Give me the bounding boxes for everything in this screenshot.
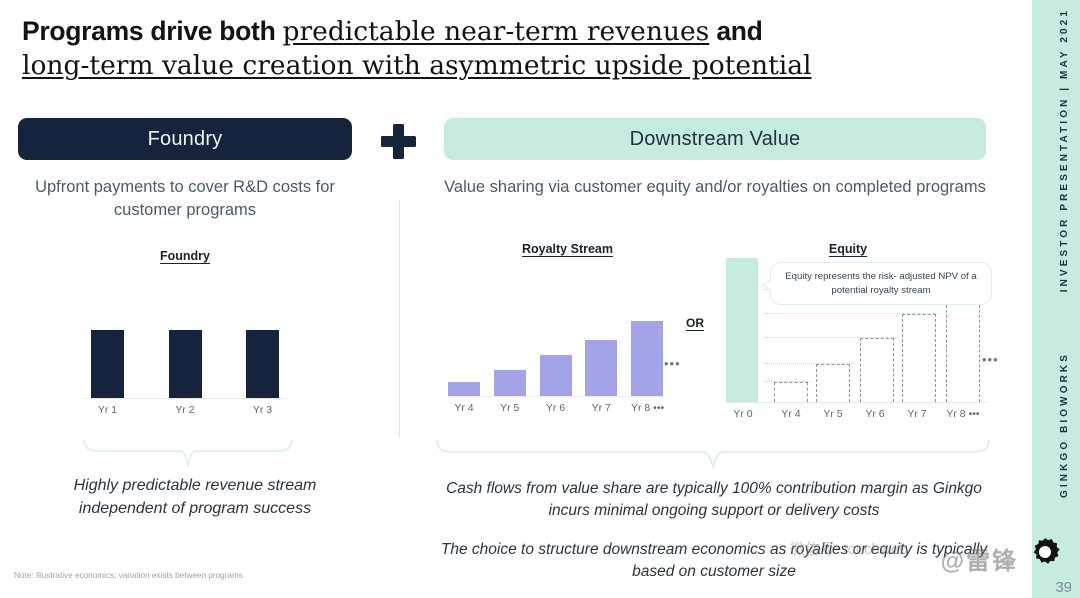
bar-yr6 (540, 355, 572, 396)
foundry-caption: Upfront payments to cover R&D costs for … (18, 176, 352, 223)
axis-label-yr0-equity: Yr 0 (726, 408, 760, 420)
axis-label-yr6: Yr 6 (540, 402, 572, 414)
dashed-bar-yr6 (860, 338, 894, 402)
axis-label-yr2: Yr 2 (169, 404, 202, 416)
foundry-bars (85, 330, 285, 398)
foundry-column: Foundry Upfront payments to cover R&D co… (18, 118, 352, 263)
royalty-axis-labels: Yr 4 Yr 5 Yr 6 Yr 7 Yr 8 ••• (448, 402, 663, 414)
royalty-ellipsis: ••• (664, 356, 681, 371)
downstream-conclusion-1: Cash flows from value share are typicall… (440, 478, 988, 523)
vertical-divider (399, 200, 400, 438)
equity-axis-labels: Yr 0 Yr 4 Yr 5 Yr 6 Yr 7 Yr 8 ••• (726, 408, 988, 420)
downstream-pill: Downstream Value (444, 118, 986, 160)
axis-label-yr7-equity: Yr 7 (900, 408, 934, 420)
foundry-chart-header: Foundry (18, 249, 352, 263)
left-brace (82, 438, 294, 468)
bar-yr7 (585, 340, 617, 396)
foundry-pill: Foundry (18, 118, 352, 160)
royalty-bars (448, 318, 663, 396)
right-brace (435, 438, 991, 470)
equity-chart-header: Equity (800, 242, 896, 256)
bar-yr8 (631, 321, 663, 396)
axis-label-yr1: Yr 1 (91, 404, 124, 416)
footnote: Note: Illustrative economics; variation … (14, 571, 243, 580)
page-title: Programs drive both predictable near-ter… (22, 14, 822, 84)
axis-label-yr5: Yr 5 (494, 402, 526, 414)
axis-label-yr4: Yr 4 (448, 402, 480, 414)
rail-presentation-label: INVESTOR PRESENTATION | MAY 2021 (1059, 8, 1070, 292)
axis-label-yr4-equity: Yr 4 (774, 408, 808, 420)
foundry-axis-line (85, 398, 285, 399)
axis-label-yr8-equity: Yr 8 ••• (940, 408, 986, 420)
foundry-conclusion: Highly predictable revenue stream indepe… (40, 474, 350, 520)
dashed-bar-yr7 (902, 314, 936, 402)
title-underline-2: long-term value creation with asymmetric… (22, 50, 812, 81)
dashed-bar-yr4 (774, 382, 808, 402)
dashed-bar-yr8 (946, 290, 980, 402)
equity-axis-line (726, 402, 988, 403)
bar-yr4 (448, 382, 480, 396)
royalty-bar-chart: Yr 4 Yr 5 Yr 6 Yr 7 Yr 8 ••• (448, 318, 663, 418)
bar-yr2 (169, 330, 202, 398)
foundry-pill-label: Foundry (148, 128, 223, 151)
title-bold-1: Programs drive both (22, 16, 283, 46)
equity-callout: Equity represents the risk- adjusted NPV… (770, 262, 992, 305)
bar-yr5 (494, 370, 526, 396)
plus-icon (381, 124, 416, 159)
or-label: OR (686, 316, 704, 330)
title-bold-2: and (709, 16, 762, 46)
bar-yr3 (246, 330, 279, 398)
title-underline-1: predictable near-term revenues (283, 16, 710, 47)
royalty-axis-line (448, 396, 663, 397)
downstream-column: Downstream Value Value sharing via custo… (444, 118, 986, 199)
bar-yr1 (91, 330, 124, 398)
axis-label-yr8: Yr 8 ••• (631, 402, 663, 414)
downstream-conclusion: Cash flows from value share are typicall… (440, 478, 988, 584)
foundry-bar-chart: Yr 1 Yr 2 Yr 3 (85, 330, 285, 415)
page-number: 39 (1055, 579, 1072, 596)
equity-ellipsis: ••• (982, 352, 999, 367)
downstream-pill-label: Downstream Value (630, 128, 801, 151)
downstream-conclusion-2: The choice to structure downstream econo… (440, 539, 988, 584)
axis-label-yr3: Yr 3 (246, 404, 279, 416)
axis-label-yr6-equity: Yr 6 (858, 408, 892, 420)
side-rail: INVESTOR PRESENTATION | MAY 2021 GINKGO … (1032, 0, 1080, 598)
axis-label-yr7: Yr 7 (585, 402, 617, 414)
downstream-caption: Value sharing via customer equity and/or… (444, 176, 986, 199)
royalty-chart-header: Royalty Stream (490, 242, 645, 256)
bar-yr0-equity (726, 258, 758, 402)
rail-company-label: GINKGO BIOWORKS (1059, 352, 1070, 498)
axis-label-yr5-equity: Yr 5 (816, 408, 850, 420)
foundry-axis-labels: Yr 1 Yr 2 Yr 3 (85, 404, 285, 416)
dashed-bar-yr5 (816, 364, 850, 402)
